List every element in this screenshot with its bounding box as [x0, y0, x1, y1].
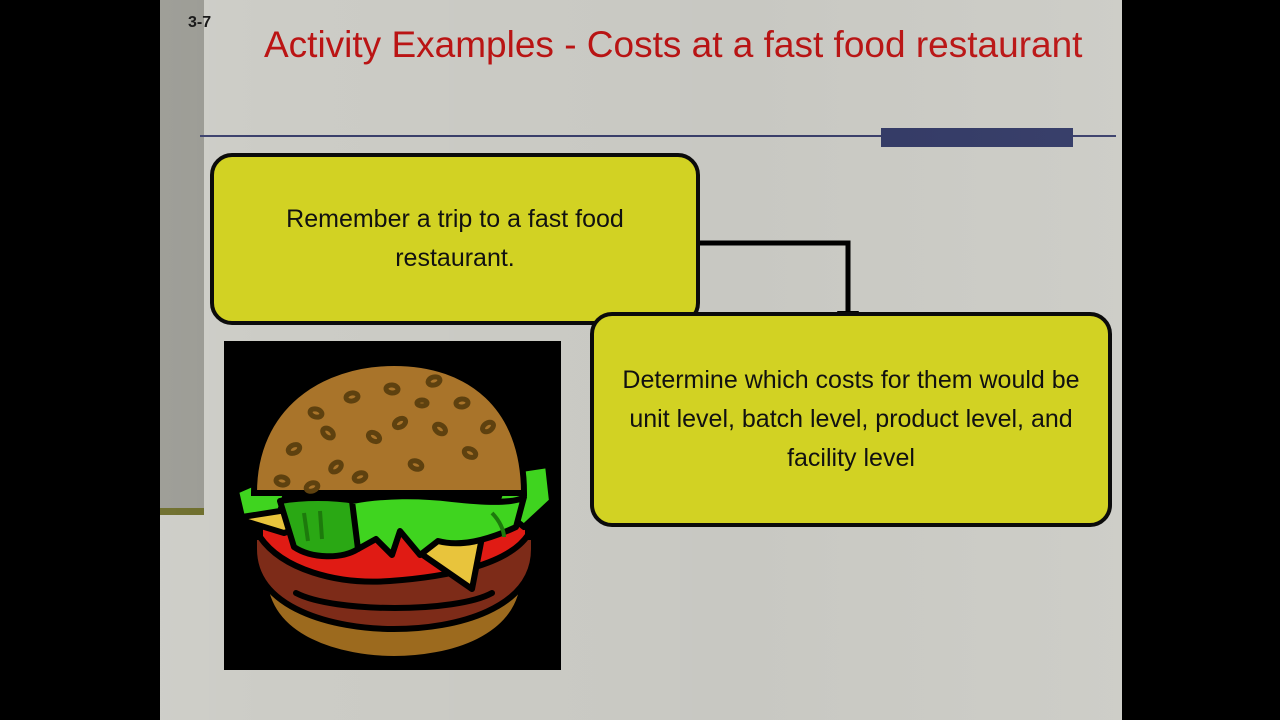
hamburger-clipart-icon — [224, 341, 561, 670]
page-title: Activity Examples - Costs at a fast food… — [264, 18, 1084, 72]
callout-remember-text: Remember a trip to a fast food restauran… — [240, 200, 670, 278]
slide-canvas: 3-7 Activity Examples - Costs at a fast … — [160, 0, 1122, 720]
hamburger-image — [224, 341, 561, 670]
letterbox-left — [0, 0, 160, 720]
letterbox-right — [1122, 0, 1280, 720]
callout-determine[interactable]: Determine which costs for them would be … — [590, 312, 1112, 527]
callout-remember[interactable]: Remember a trip to a fast food restauran… — [210, 153, 700, 325]
page-number: 3-7 — [188, 14, 211, 32]
left-decorative-band — [160, 0, 204, 510]
title-accent-block — [881, 128, 1073, 147]
callout-determine-text: Determine which costs for them would be … — [616, 361, 1086, 478]
slide-viewer: 3-7 Activity Examples - Costs at a fast … — [0, 0, 1280, 720]
left-band-accent-cap — [160, 508, 204, 515]
